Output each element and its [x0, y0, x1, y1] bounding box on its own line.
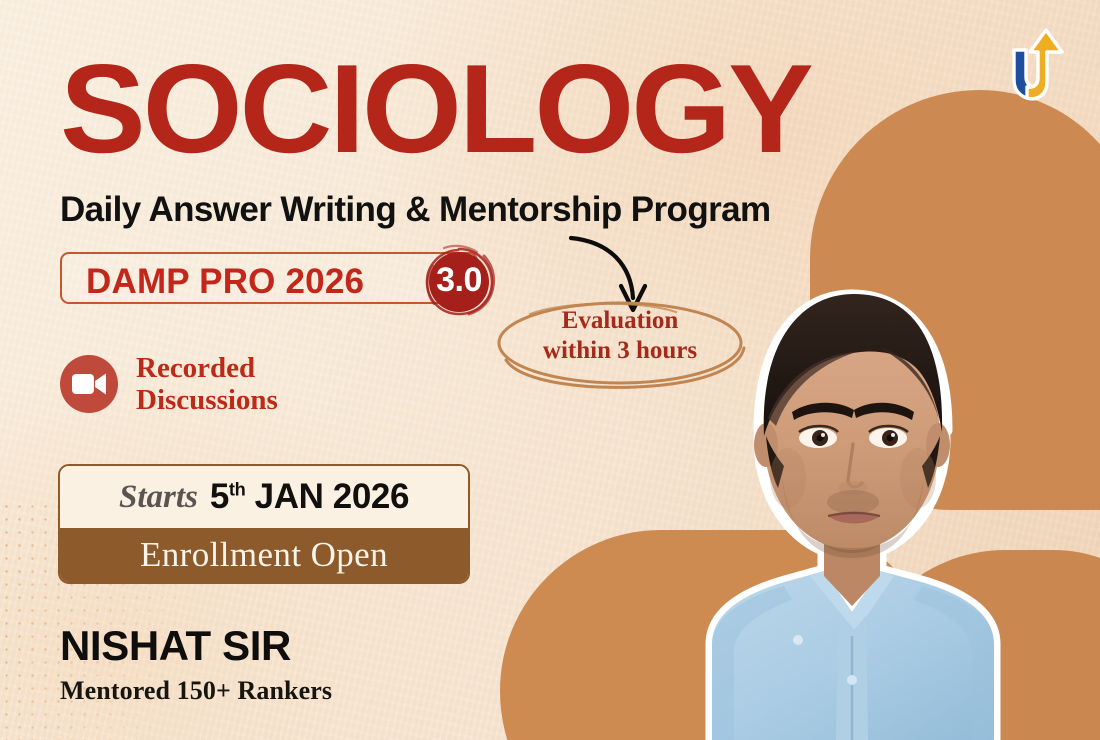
start-day: 5 — [210, 477, 229, 516]
version-badge-label: 3.0 — [422, 244, 496, 318]
start-date-row: Starts 5th JAN 2026 — [60, 466, 468, 528]
version-badge: 3.0 — [422, 244, 496, 318]
instructor-name: NISHAT SIR — [60, 624, 332, 668]
schedule-box: Starts 5th JAN 2026 Enrollment Open — [58, 464, 470, 584]
feature-label: Recorded Discussions — [136, 352, 278, 417]
enrollment-status-label: Enrollment Open — [140, 535, 388, 575]
program-badge: DAMP PRO 2026 3.0 — [60, 246, 890, 310]
promo-banner: SOCIOLOGY Daily Answer Writing & Mentors… — [0, 0, 1100, 740]
start-date-value: 5th JAN 2026 — [210, 477, 409, 517]
page-subtitle: Daily Answer Writing & Mentorship Progra… — [60, 190, 890, 230]
page-title: SOCIOLOGY — [60, 46, 907, 172]
video-camera-icon — [60, 355, 118, 413]
start-month-year: JAN 2026 — [255, 477, 409, 516]
video-camera-glyph — [72, 372, 106, 396]
feature-recorded-discussions: Recorded Discussions — [60, 352, 278, 417]
enrollment-status-bar[interactable]: Enrollment Open — [60, 528, 468, 582]
starts-label: Starts — [119, 479, 198, 516]
evaluation-line-2: within 3 hours — [490, 336, 750, 366]
instructor-credential: Mentored 150+ Rankers — [60, 676, 332, 706]
feature-line-1: Recorded — [136, 352, 278, 384]
evaluation-line-1: Evaluation — [490, 306, 750, 336]
uj-upward-arrow-logo-icon — [1000, 22, 1072, 112]
feature-line-2: Discussions — [136, 384, 278, 416]
start-ordinal: th — [229, 479, 245, 499]
evaluation-callout-text: Evaluation within 3 hours — [490, 306, 750, 365]
instructor-block: NISHAT SIR Mentored 150+ Rankers — [60, 624, 332, 706]
program-badge-label: DAMP PRO 2026 — [86, 262, 364, 302]
headline-block: SOCIOLOGY Daily Answer Writing & Mentors… — [60, 0, 890, 310]
